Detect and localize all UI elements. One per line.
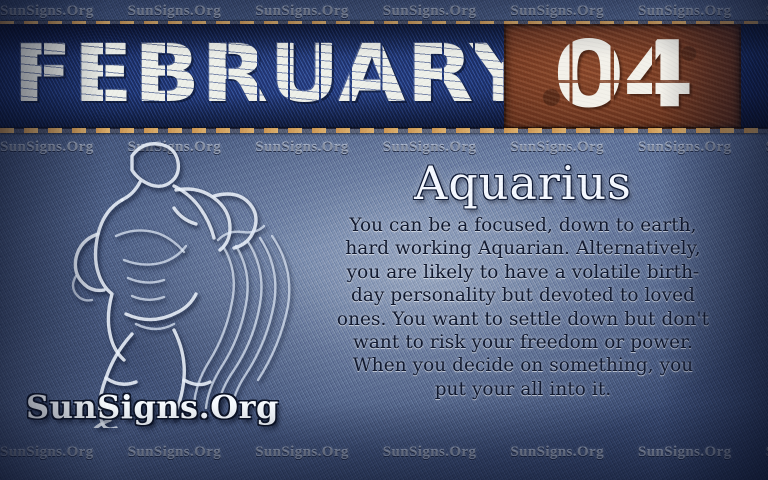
day-number-panel: 04	[504, 24, 741, 129]
month-label: FEBRUARY	[13, 24, 534, 127]
day-number: 04	[504, 24, 741, 129]
horoscope-card: SunSigns.OrgSunSigns.OrgSunSigns.OrgSunS…	[0, 0, 768, 480]
date-header-band: FEBRUARY 04	[0, 24, 768, 129]
